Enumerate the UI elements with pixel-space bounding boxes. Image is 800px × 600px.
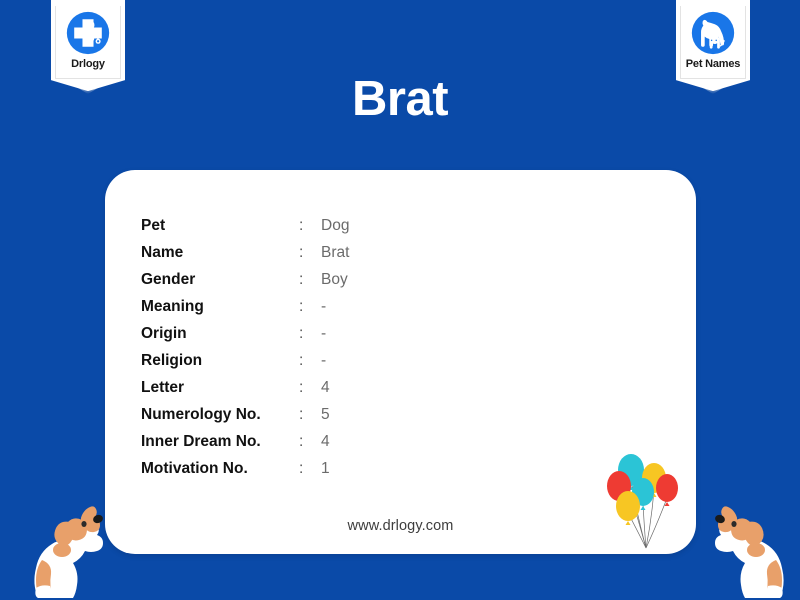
row-label: Letter	[141, 374, 299, 401]
row-value: Boy	[321, 266, 349, 293]
table-row: Name : Brat	[141, 239, 349, 266]
sitting-dog-right-icon	[700, 496, 796, 600]
row-separator: :	[299, 266, 321, 293]
table-row: Numerology No. : 5	[141, 401, 349, 428]
row-label: Pet	[141, 212, 299, 239]
ribbon-inner-left: Drlogy	[55, 6, 121, 79]
row-label: Origin	[141, 320, 299, 347]
row-label: Numerology No.	[141, 401, 299, 428]
badge-pet-names[interactable]: Pet Names	[676, 0, 750, 91]
row-separator: :	[299, 212, 321, 239]
row-value: Dog	[321, 212, 349, 239]
row-label: Gender	[141, 266, 299, 293]
dog-cat-icon	[690, 10, 736, 56]
ribbon-left: Drlogy	[51, 0, 125, 91]
table-row: Gender : Boy	[141, 266, 349, 293]
pet-details-table: Pet : Dog Name : Brat Gender : Boy Meani…	[141, 212, 349, 482]
table-row: Meaning : -	[141, 293, 349, 320]
row-label: Name	[141, 239, 299, 266]
row-value: 4	[321, 374, 349, 401]
table-row: Origin : -	[141, 320, 349, 347]
row-separator: :	[299, 428, 321, 455]
row-separator: :	[299, 455, 321, 482]
row-value: -	[321, 320, 349, 347]
table-row: Inner Dream No. : 4	[141, 428, 349, 455]
row-separator: :	[299, 401, 321, 428]
badge-right-label: Pet Names	[683, 58, 743, 70]
row-separator: :	[299, 293, 321, 320]
table-row: Religion : -	[141, 347, 349, 374]
row-label: Motivation No.	[141, 455, 299, 482]
drlogy-doctor-cross-icon	[65, 10, 111, 56]
row-separator: :	[299, 347, 321, 374]
pet-details-body: Pet : Dog Name : Brat Gender : Boy Meani…	[141, 212, 349, 482]
row-value: -	[321, 347, 349, 374]
row-label: Inner Dream No.	[141, 428, 299, 455]
row-separator: :	[299, 239, 321, 266]
row-label: Religion	[141, 347, 299, 374]
row-value: 1	[321, 455, 349, 482]
sitting-dog-left-icon	[22, 496, 118, 600]
ribbon-right: Pet Names	[676, 0, 750, 91]
ribbon-inner-right: Pet Names	[680, 6, 746, 79]
pet-name-card: Pet : Dog Name : Brat Gender : Boy Meani…	[105, 170, 696, 554]
table-row: Motivation No. : 1	[141, 455, 349, 482]
table-row: Letter : 4	[141, 374, 349, 401]
badge-drlogy[interactable]: Drlogy	[51, 0, 125, 91]
row-separator: :	[299, 374, 321, 401]
row-value: 5	[321, 401, 349, 428]
row-value: 4	[321, 428, 349, 455]
balloons-icon	[598, 444, 692, 554]
badge-left-label: Drlogy	[58, 58, 118, 70]
table-row: Pet : Dog	[141, 212, 349, 239]
row-separator: :	[299, 320, 321, 347]
row-value: Brat	[321, 239, 349, 266]
row-label: Meaning	[141, 293, 299, 320]
row-value: -	[321, 293, 349, 320]
